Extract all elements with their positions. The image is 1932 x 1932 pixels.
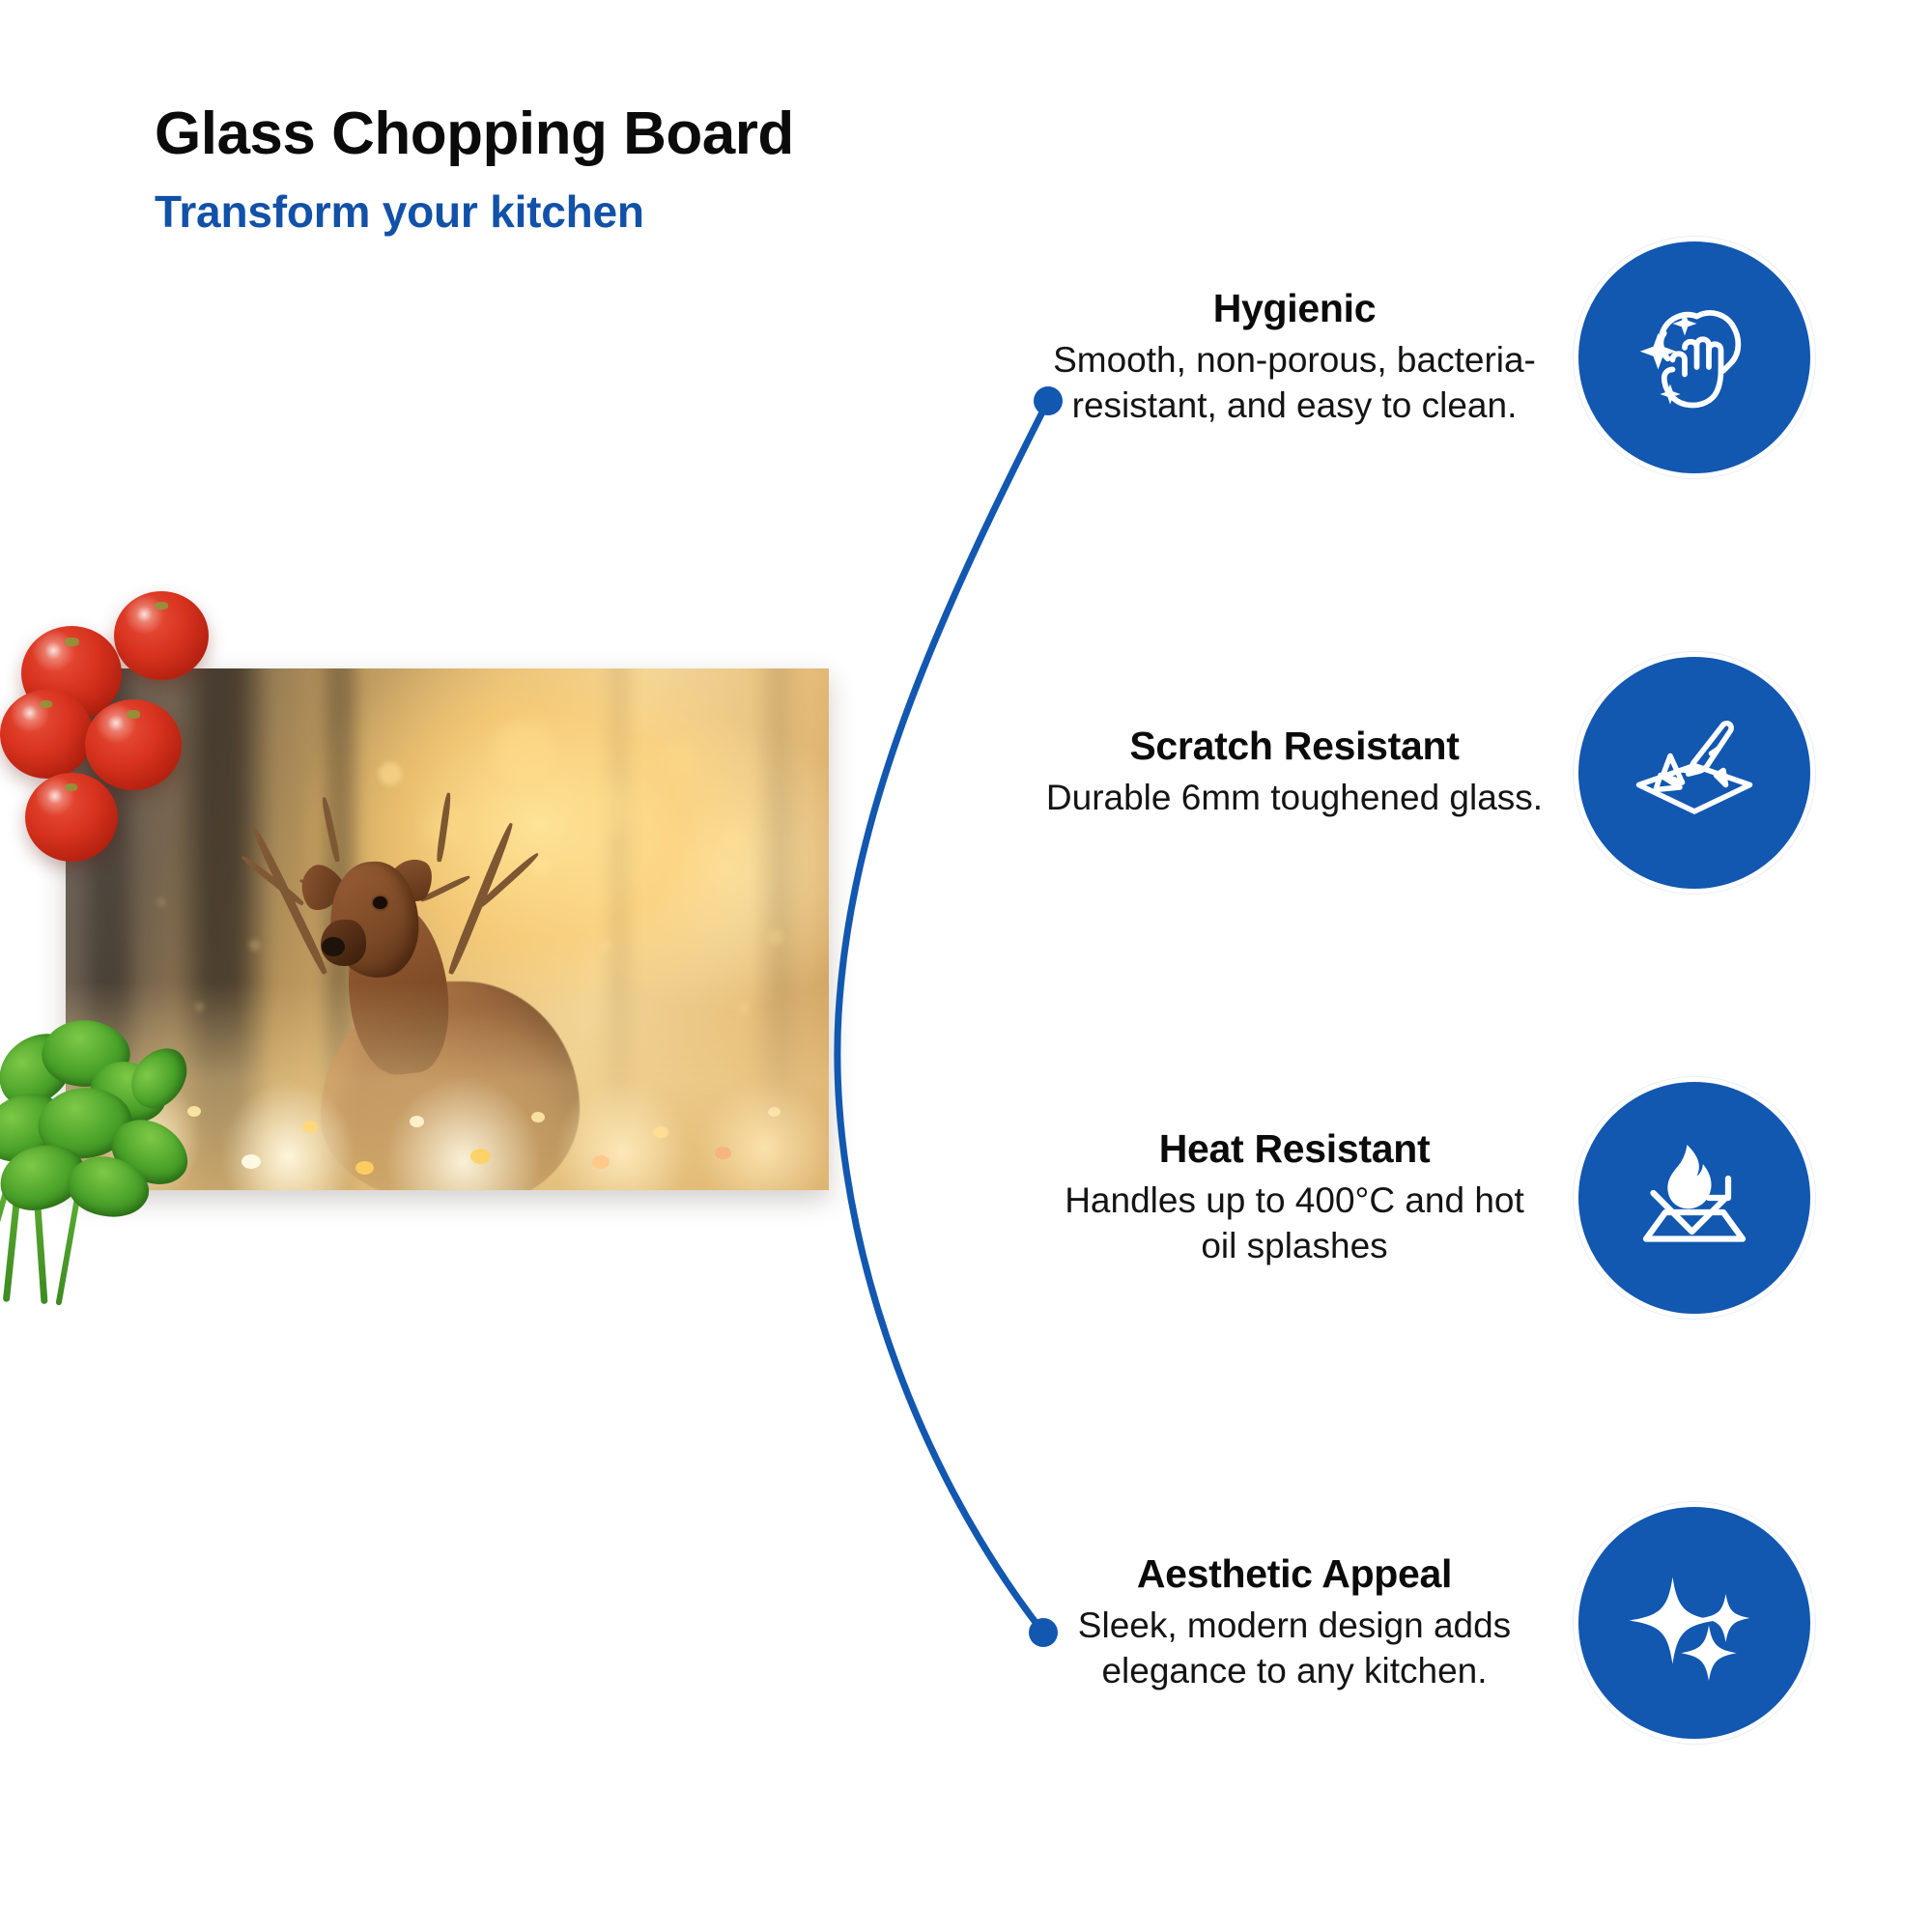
- feature-item-scratch-resistant: Scratch Resistant Durable 6mm toughened …: [1043, 657, 1913, 889]
- knife-scratch-surface-icon: [1578, 657, 1810, 889]
- feature-title: Scratch Resistant: [1043, 724, 1546, 768]
- sparkles-icon: [1578, 1507, 1810, 1739]
- hand-wiping-sparkle-icon: [1578, 241, 1810, 473]
- feature-list: Hygienic Smooth, non-porous, bacteria-re…: [1043, 0, 1932, 1932]
- cherry-tomato: [114, 591, 209, 680]
- feature-item-aesthetic-appeal: Aesthetic Appeal Sleek, modern design ad…: [1043, 1507, 1913, 1739]
- feature-title: Aesthetic Appeal: [1043, 1552, 1546, 1596]
- feature-description: Durable 6mm toughened glass.: [1043, 776, 1546, 821]
- feature-text-block: Heat Resistant Handles up to 400°C and h…: [1043, 1127, 1546, 1268]
- feature-text-block: Aesthetic Appeal Sleek, modern design ad…: [1043, 1552, 1546, 1693]
- feature-item-hygienic: Hygienic Smooth, non-porous, bacteria-re…: [1043, 241, 1913, 473]
- product-image-composite: [0, 609, 869, 1285]
- feature-text-block: Scratch Resistant Durable 6mm toughened …: [1043, 724, 1546, 821]
- feature-description: Handles up to 400°C and hot oil splashes: [1043, 1179, 1546, 1268]
- feature-title: Hygienic: [1043, 287, 1546, 330]
- feature-description: Sleek, modern design adds elegance to an…: [1043, 1604, 1546, 1693]
- cherry-tomato: [0, 690, 93, 779]
- cherry-tomato: [25, 773, 118, 862]
- feature-item-heat-resistant: Heat Resistant Handles up to 400°C and h…: [1043, 1082, 1913, 1314]
- parsley-garnish: [0, 995, 253, 1304]
- cherry-tomato: [85, 699, 182, 790]
- feature-text-block: Hygienic Smooth, non-porous, bacteria-re…: [1043, 287, 1546, 428]
- feature-title: Heat Resistant: [1043, 1127, 1546, 1171]
- feature-description: Smooth, non-porous, bacteria-resistant, …: [1043, 338, 1546, 428]
- flame-deflect-surface-icon: [1578, 1082, 1810, 1314]
